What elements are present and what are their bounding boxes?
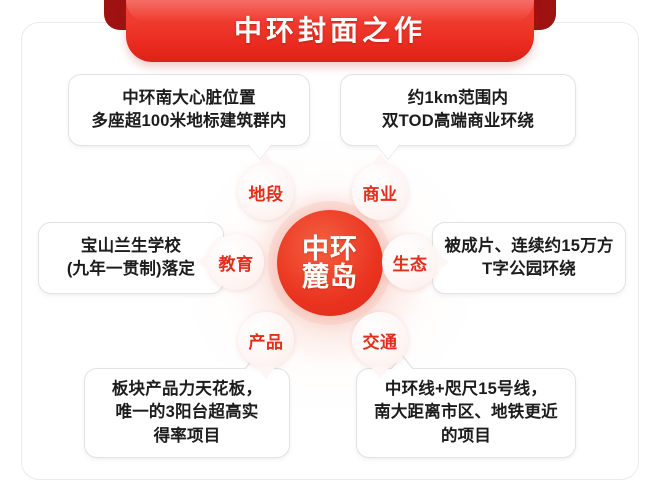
callout-jiaotong-text: 中环线+咫尺15号线， 南大距离市区、地铁更近 的项目 [374,378,558,448]
infographic-canvas: 中环封面之作 中环南大心脏位置 多座超100米地标建筑群内 约1km范围内 双T… [0,0,660,488]
central-hub: 中环 麓岛 [277,210,383,316]
node-diduan-connector [257,153,275,165]
node-chanpin-label: 产品 [249,328,284,353]
callout-shengtai-text: 被成片、连续约15万方 T字公园环绕 [444,235,613,282]
title-banner: 中环封面之作 [104,0,556,72]
node-diduan-label: 地段 [249,180,284,205]
callout-diduan-text: 中环南大心脏位置 多座超100米地标建筑群内 [91,87,286,134]
node-shangye[interactable]: 商业 [352,164,408,220]
node-jiaoyu-label: 教育 [219,250,254,275]
node-jiaoyu-connector [197,253,209,271]
callout-chanpin: 板块产品力天花板， 唯一的3阳台超高实 得率项目 [84,368,290,458]
node-chanpin-connector [257,367,275,379]
callout-shangye: 约1km范围内 双TOD高端商业环绕 [340,74,576,146]
page-title: 中环封面之作 [104,9,556,49]
node-jiaotong-connector [371,367,389,379]
node-jiaotong-label: 交通 [363,328,398,353]
callout-jiaoyu-text: 宝山兰生学校 (九年一贯制)落定 [67,235,195,282]
node-shengtai-connector [437,253,449,271]
callout-jiaotong: 中环线+咫尺15号线， 南大距离市区、地铁更近 的项目 [356,368,576,458]
node-jiaotong[interactable]: 交通 [352,312,408,368]
node-diduan[interactable]: 地段 [238,164,294,220]
node-jiaoyu[interactable]: 教育 [208,234,264,290]
callout-shengtai: 被成片、连续约15万方 T字公园环绕 [432,222,626,294]
node-chanpin[interactable]: 产品 [238,312,294,368]
callout-shangye-text: 约1km范围内 双TOD高端商业环绕 [382,87,534,134]
node-shangye-label: 商业 [363,180,398,205]
callout-diduan: 中环南大心脏位置 多座超100米地标建筑群内 [68,74,310,146]
callout-chanpin-text: 板块产品力天花板， 唯一的3阳台超高实 得率项目 [112,378,262,448]
node-shangye-connector [371,153,389,165]
node-shengtai-label: 生态 [393,250,428,275]
hub-label: 中环 麓岛 [302,235,358,291]
node-shengtai[interactable]: 生态 [382,234,438,290]
